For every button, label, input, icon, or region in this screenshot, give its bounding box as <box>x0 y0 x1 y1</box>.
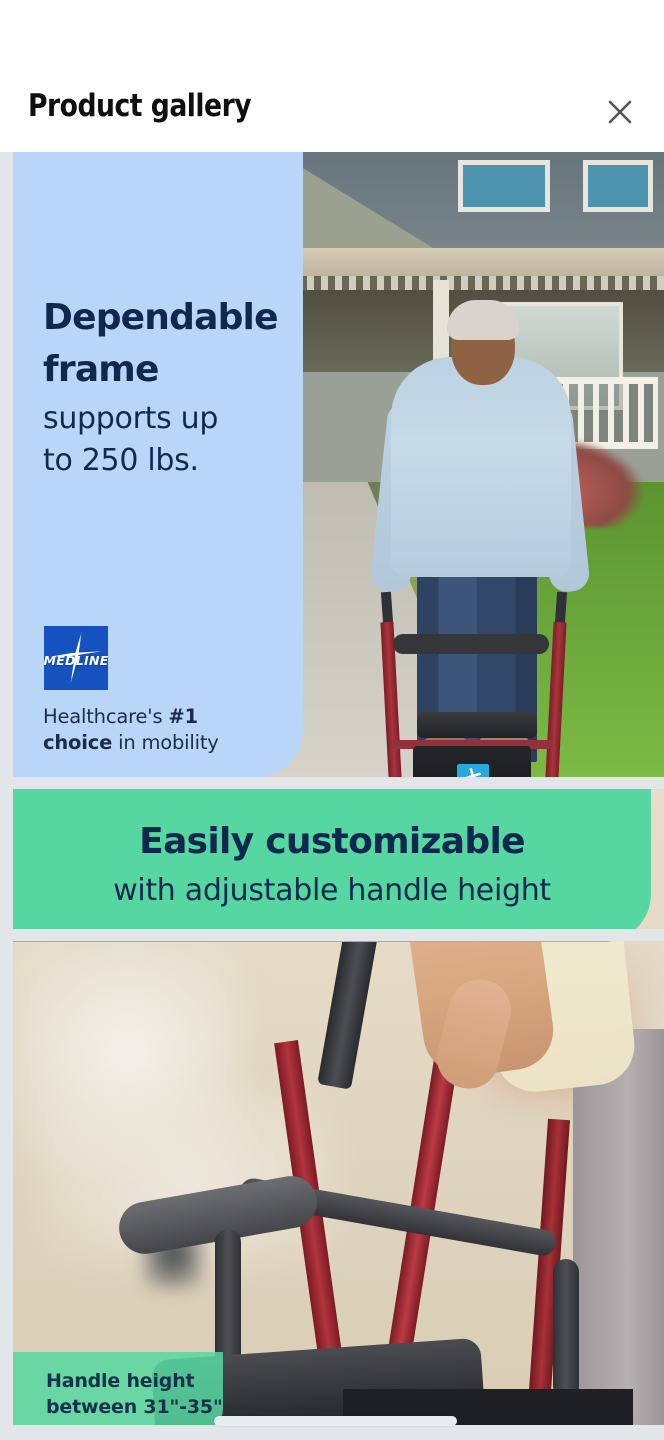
gallery-scroll-area[interactable]: Dependable frame supports up to 250 lbs.… <box>0 152 664 1440</box>
close-icon <box>605 97 635 127</box>
brand-tagline: Healthcare's #1choice in mobility <box>43 704 283 756</box>
person-leg <box>573 1029 664 1440</box>
close-button[interactable] <box>592 84 648 140</box>
customizable-banner: Easily customizable with adjustable hand… <box>13 789 651 942</box>
scroll-indicator[interactable] <box>214 1416 457 1426</box>
product-gallery-modal: Product gallery <box>0 0 664 1440</box>
gallery-slide-dependable-frame[interactable]: Dependable frame supports up to 250 lbs.… <box>13 152 664 777</box>
gallery-header: Product gallery <box>0 0 664 152</box>
tagline-prefix: Healthcare's <box>43 705 168 728</box>
bottom-gutter <box>0 1425 664 1440</box>
banner-subtitle: with adjustable handle height <box>13 873 651 908</box>
medline-logo: MEDLINE <box>44 626 108 690</box>
person-torso <box>391 357 571 577</box>
tagline-rank: #1 <box>168 705 198 728</box>
walker-handle-drop-left <box>215 1229 241 1369</box>
upper-window-far-right <box>583 160 653 212</box>
upper-window-right <box>458 160 550 212</box>
medline-wordmark: MEDLINE <box>43 653 108 668</box>
handle-height-text: Handle height between 31"-35" <box>46 1368 223 1420</box>
feature-headline: Dependable frame <box>43 292 278 396</box>
person-hair <box>447 300 519 340</box>
feature-callout-panel: Dependable frame supports up to 250 lbs.… <box>13 152 303 777</box>
slide-divider <box>0 929 664 941</box>
left-gutter <box>0 152 13 1440</box>
walker-seat <box>417 712 537 738</box>
walker-handle-drop-right <box>553 1259 579 1399</box>
tagline-choice: choice <box>43 731 112 754</box>
page-title: Product gallery <box>28 88 251 124</box>
medline-cross-icon <box>457 764 489 777</box>
tagline-suffix: in mobility <box>112 731 219 754</box>
walker-backrest-bar <box>393 634 549 654</box>
banner-title: Easily customizable <box>13 821 651 862</box>
feature-subhead: supports up to 250 lbs. <box>43 398 218 482</box>
